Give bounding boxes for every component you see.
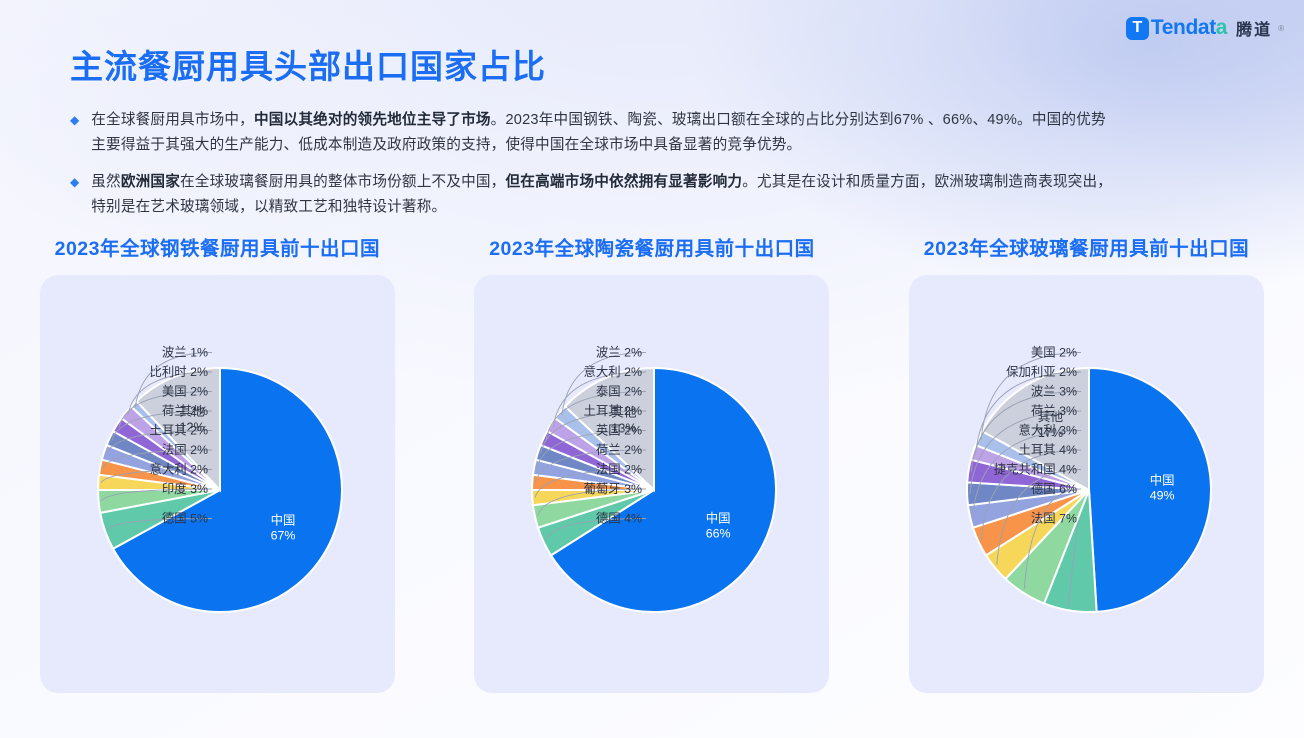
pie-slice-label: 土耳其 4% — [1018, 443, 1077, 457]
pie-slice-label: 美国 2% — [162, 385, 208, 399]
pie-slice-label: 意大利 2% — [149, 462, 208, 477]
diamond-bullet-icon: ◆ — [70, 108, 79, 133]
chart-column-ceramic: 2023年全球陶瓷餐厨用具前十出口国 中国66%其他13%德国 4%葡萄牙 3%… — [435, 232, 870, 693]
pie-slice-label: 法国 2% — [596, 463, 642, 477]
logo-mark-icon: T — [1126, 17, 1149, 40]
bullet-line: 主要得益于其强大的生产能力、低成本制造及政府政策的支持，使得中国在全球市场中具备… — [91, 133, 1106, 158]
pie-slice-label: 荷兰 2% — [162, 404, 208, 418]
pie-slice-label: 德国 4% — [596, 511, 642, 526]
pie-chart-steel[interactable]: 中国67%其他12%德国 5%印度 3%意大利 2%法国 2%土耳其 2%荷兰 … — [40, 275, 395, 693]
pie-slice-label: 中国66% — [706, 510, 731, 540]
pie-slice-label: 波兰 3% — [1031, 385, 1077, 399]
pie-slice-label: 中国67% — [270, 512, 295, 542]
pie-slice-label: 波兰 1% — [162, 346, 208, 360]
bullet-line: 在全球餐厨用具市场中，中国以其绝对的领先地位主导了市场。2023年中国钢铁、陶瓷… — [91, 108, 1106, 133]
pie-slice-label: 土耳其 2% — [149, 424, 208, 438]
chart-column-glass: 2023年全球玻璃餐厨用具前十出口国 中国49%其他17%法国 7%德国 6%捷… — [869, 232, 1304, 693]
chart-title: 2023年全球陶瓷餐厨用具前十出口国 — [489, 232, 814, 261]
pie-slice-label: 意大利 3% — [1018, 423, 1077, 438]
chart-title: 2023年全球玻璃餐厨用具前十出口国 — [924, 232, 1249, 261]
pie-slice-label: 泰国 2% — [596, 385, 642, 399]
bullet-list: ◆ 在全球餐厨用具市场中，中国以其绝对的领先地位主导了市场。2023年中国钢铁、… — [70, 108, 1255, 232]
pie-slice-label: 意大利 2% — [584, 364, 643, 379]
pie-slice-label: 捷克共和国 4% — [994, 463, 1077, 477]
bullet-text: 在全球餐厨用具市场中，中国以其绝对的领先地位主导了市场。2023年中国钢铁、陶瓷… — [91, 108, 1106, 158]
logo-wordmark: Tendata — [1151, 16, 1227, 40]
bullet-emphasis: 但在高端市场中依然拥有显著影响力 — [505, 174, 742, 190]
chart-column-steel: 2023年全球钢铁餐厨用具前十出口国 中国67%其他12%德国 5%印度 3%意… — [0, 232, 435, 693]
bullet-emphasis: 中国以其绝对的领先地位主导了市场 — [254, 112, 491, 128]
logo-word-tail: a — [1216, 16, 1227, 39]
bullet-line: 虽然欧洲国家在全球玻璃餐厨用具的整体市场份额上不及中国，但在高端市场中依然拥有显… — [91, 170, 1112, 195]
pie-slice-label: 荷兰 2% — [596, 443, 642, 457]
chart-title: 2023年全球钢铁餐厨用具前十出口国 — [55, 232, 380, 261]
pie-slice-label: 英国 2% — [596, 424, 642, 438]
pie-chart-ceramic[interactable]: 中国66%其他13%德国 4%葡萄牙 3%法国 2%荷兰 2%英国 2%土耳其 … — [474, 275, 829, 693]
pie-slice-label: 美国 2% — [1031, 346, 1077, 360]
charts-row: 2023年全球钢铁餐厨用具前十出口国 中国67%其他12%德国 5%印度 3%意… — [0, 232, 1304, 693]
logo-chinese-name: 腾道 — [1236, 16, 1272, 40]
pie-slice-label: 法国 2% — [162, 443, 208, 457]
pie-slice-label: 印度 3% — [162, 481, 208, 496]
pie-slice-label: 波兰 2% — [596, 346, 642, 360]
pie-slice-label: 保加利亚 2% — [1006, 365, 1077, 379]
pie-slice-label: 德国 5% — [162, 511, 208, 526]
diamond-bullet-icon: ◆ — [70, 170, 79, 195]
bullet-line: 特别是在艺术玻璃领域，以精致工艺和独特设计著称。 — [91, 195, 1112, 220]
pie-chart-glass[interactable]: 中国49%其他17%法国 7%德国 6%捷克共和国 4%土耳其 4%意大利 3%… — [909, 275, 1264, 693]
bullet-item: ◆ 在全球餐厨用具市场中，中国以其绝对的领先地位主导了市场。2023年中国钢铁、… — [70, 108, 1255, 158]
pie-slice-label: 德国 6% — [1031, 481, 1077, 496]
page-title: 主流餐厨用具头部出口国家占比 — [70, 40, 546, 88]
pie-slice-label: 葡萄牙 3% — [584, 482, 643, 496]
pie-slice-label: 中国49% — [1150, 473, 1175, 503]
registered-mark-icon: ® — [1278, 24, 1284, 33]
bullet-emphasis: 欧洲国家 — [121, 174, 180, 190]
bullet-text: 虽然欧洲国家在全球玻璃餐厨用具的整体市场份额上不及中国，但在高端市场中依然拥有显… — [91, 170, 1112, 220]
logo-word-main: Tendat — [1151, 16, 1216, 39]
pie-slice-label: 荷兰 3% — [1031, 404, 1077, 418]
pie-slice-label: 比利时 2% — [149, 365, 208, 379]
slide-canvas: T Tendata 腾道 ® 主流餐厨用具头部出口国家占比 ◆ 在全球餐厨用具市… — [0, 0, 1304, 738]
pie-slice-label: 土耳其 2% — [584, 404, 643, 418]
bullet-item: ◆ 虽然欧洲国家在全球玻璃餐厨用具的整体市场份额上不及中国，但在高端市场中依然拥… — [70, 170, 1255, 220]
brand-logo: T Tendata 腾道 ® — [1126, 16, 1284, 40]
